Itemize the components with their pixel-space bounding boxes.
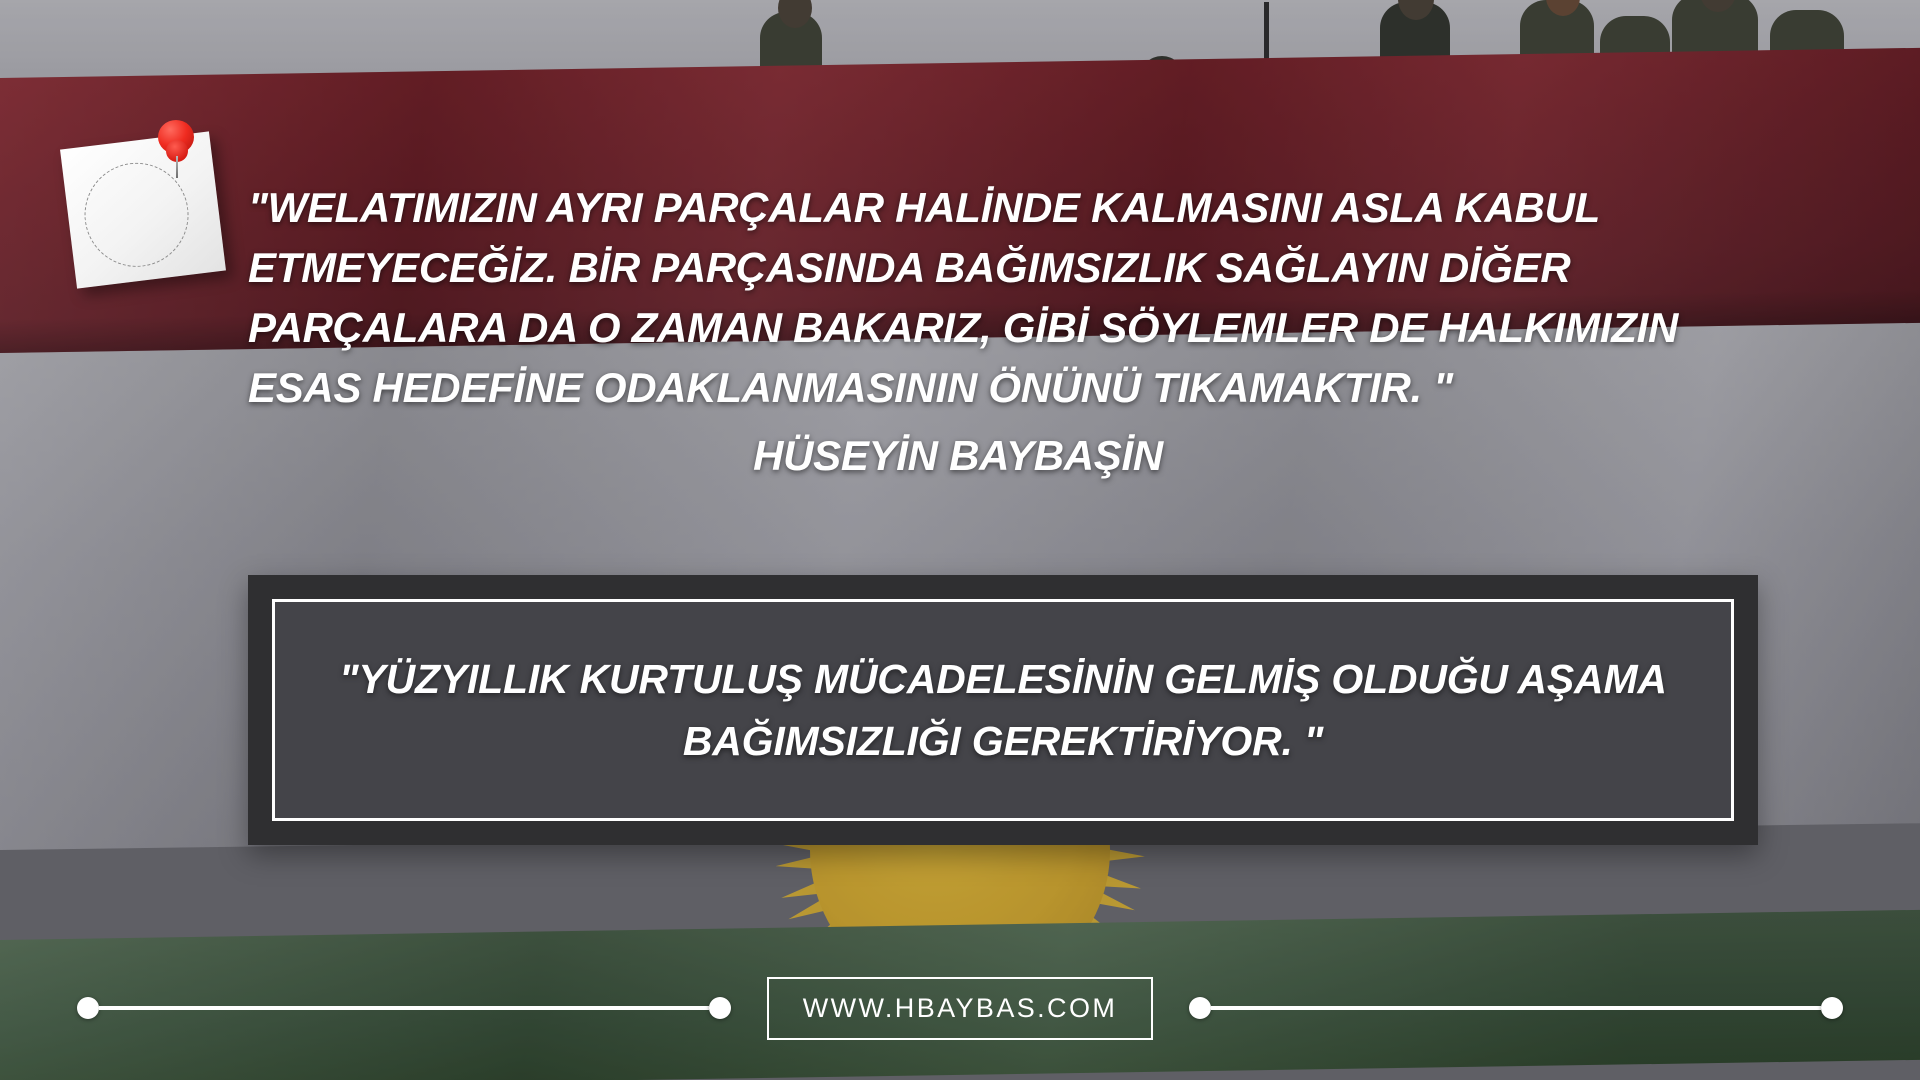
rule-dot-left-inner: [709, 997, 731, 1019]
secondary-quote-inner-border: "YÜZYILLIK KURTULUŞ MÜCADELESİNİN GELMİŞ…: [272, 599, 1734, 821]
quote-line: PARÇALARA DA O ZAMAN BAKARIZ, GİBİ SÖYLE…: [248, 298, 1668, 358]
sticky-note-graphic: [68, 118, 238, 293]
rule-dot-left: [77, 997, 99, 1019]
poster-canvas: "WELATIMIZIN AYRI PARÇALAR HALİNDE KALMA…: [0, 0, 1920, 1080]
rule-line-left: [99, 1006, 709, 1010]
quote-line: "WELATIMIZIN AYRI PARÇALAR HALİNDE KALMA…: [248, 178, 1668, 238]
rule-dot-right-inner: [1189, 997, 1211, 1019]
quote-line: BAĞIMSIZLIĞI GEREKTİRİYOR. ": [339, 710, 1667, 772]
primary-quote-block: "WELATIMIZIN AYRI PARÇALAR HALİNDE KALMA…: [248, 178, 1668, 486]
pin-needle: [176, 156, 178, 178]
note-paper: [60, 131, 226, 288]
footer-rule-left: [77, 997, 731, 1019]
quote-line: ETMEYECEĞİZ. BİR PARÇASINDA BAĞIMSIZLIK …: [248, 238, 1668, 298]
push-pin-icon: [154, 118, 200, 180]
quote-line: "YÜZYILLIK KURTULUŞ MÜCADELESİNİN GELMİŞ…: [339, 648, 1667, 710]
secondary-quote-block: "YÜZYILLIK KURTULUŞ MÜCADELESİNİN GELMİŞ…: [309, 648, 1697, 772]
background-photo: [0, 0, 1920, 1080]
rule-line-right: [1211, 1006, 1821, 1010]
website-url-link[interactable]: WWW.HBAYBAS.COM: [767, 977, 1154, 1040]
footer-rule-right: [1189, 997, 1843, 1019]
footer-bar: WWW.HBAYBAS.COM: [0, 972, 1920, 1044]
quote-author: HÜSEYİN BAYBAŞİN: [248, 426, 1668, 486]
photo-darkening-overlay: [0, 0, 1920, 1080]
quote-line: ESAS HEDEFİNE ODAKLANMASININ ÖNÜNÜ TIKAM…: [248, 358, 1668, 418]
secondary-quote-frame: "YÜZYILLIK KURTULUŞ MÜCADELESİNİN GELMİŞ…: [248, 575, 1758, 845]
rule-dot-right: [1821, 997, 1843, 1019]
